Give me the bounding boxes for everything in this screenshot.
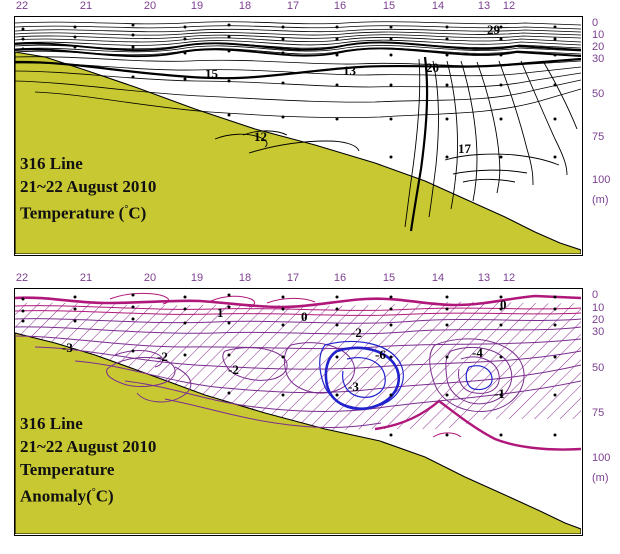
contour-label: 1 <box>217 305 224 321</box>
panel-temperature-anomaly: 2221201918171615141312 <box>0 272 620 554</box>
depth-axis-top: 01020305075100(m) <box>592 16 620 256</box>
depth-axis-bottom: 01020305075100(m) <box>592 288 620 536</box>
station-label-17: 17 <box>287 0 299 13</box>
contour-label: 29 <box>487 22 500 38</box>
contour-label: -6 <box>375 347 386 363</box>
depth-tick-100: 100 <box>592 174 610 186</box>
station-axis-bottom: 2221201918171615141312 <box>0 272 583 288</box>
depth-tick-20: 20 <box>592 314 604 326</box>
station-label-22: 22 <box>16 0 28 13</box>
contour-label: 15 <box>205 66 218 82</box>
contour-label: -3 <box>348 379 359 395</box>
depth-tick-20: 20 <box>592 41 604 53</box>
station-axis-top: 2221201918171615141312 <box>0 0 583 16</box>
contour-label: -2 <box>157 349 168 365</box>
depth-tick-50: 50 <box>592 362 604 374</box>
depth-unit-label: (m) <box>592 194 609 206</box>
caption-temperature-post: C) <box>128 204 146 223</box>
station-label-18: 18 <box>239 272 251 285</box>
caption-line-1: 316 Line <box>20 412 156 435</box>
station-label-19: 19 <box>191 0 203 13</box>
station-label-13: 13 <box>478 0 490 13</box>
station-label-17: 17 <box>287 272 299 285</box>
station-label-16: 16 <box>334 0 346 13</box>
contour-label: 12 <box>254 129 267 145</box>
figure-root: 2221201918171615141312 <box>0 0 620 554</box>
depth-tick-10: 10 <box>592 302 604 314</box>
contour-label: 20 <box>426 60 439 76</box>
depth-tick-30: 30 <box>592 53 604 65</box>
depth-tick-75: 75 <box>592 131 604 143</box>
depth-unit-label: (m) <box>592 472 609 484</box>
station-label-15: 15 <box>383 272 395 285</box>
depth-tick-30: 30 <box>592 326 604 338</box>
station-label-21: 21 <box>80 272 92 285</box>
station-label-21: 21 <box>80 0 92 13</box>
contour-label: -4 <box>472 345 483 361</box>
contour-label: 13 <box>343 63 356 79</box>
caption-anomaly-pre: Anomaly( <box>20 487 92 506</box>
station-label-15: 15 <box>383 0 395 13</box>
station-label-13: 13 <box>478 272 490 285</box>
caption-line-3: Temperature (°C) <box>20 198 156 225</box>
caption-line-1: 316 Line <box>20 152 156 175</box>
panel-temperature: 2221201918171615141312 <box>0 0 620 272</box>
depth-tick-50: 50 <box>592 88 604 100</box>
contour-label: 0 <box>301 309 308 325</box>
station-label-16: 16 <box>334 272 346 285</box>
depth-tick-100: 100 <box>592 452 610 464</box>
contour-label: 0 <box>500 297 507 313</box>
station-label-20: 20 <box>144 0 156 13</box>
contour-label: -3 <box>62 340 73 356</box>
caption-anomaly-post: C) <box>96 487 114 506</box>
station-label-14: 14 <box>432 272 444 285</box>
contour-label: -2 <box>351 325 362 341</box>
caption-line-4: Anomaly(°C) <box>20 481 156 508</box>
station-label-12: 12 <box>503 272 515 285</box>
depth-tick-0: 0 <box>592 289 598 301</box>
station-label-19: 19 <box>191 272 203 285</box>
caption-line-2: 21~22 August 2010 <box>20 435 156 458</box>
depth-tick-10: 10 <box>592 29 604 41</box>
station-label-20: 20 <box>144 272 156 285</box>
depth-tick-0: 0 <box>592 17 598 29</box>
caption-line-2: 21~22 August 2010 <box>20 175 156 198</box>
contour-label: -2 <box>228 362 239 378</box>
station-label-22: 22 <box>16 272 28 285</box>
caption-line-3: Temperature <box>20 458 156 481</box>
station-label-14: 14 <box>432 0 444 13</box>
caption-temperature-pre: Temperature ( <box>20 204 124 223</box>
station-label-18: 18 <box>239 0 251 13</box>
contour-label: 17 <box>458 141 471 157</box>
contour-label: -1 <box>494 386 505 402</box>
depth-tick-75: 75 <box>592 407 604 419</box>
caption-anomaly: 316 Line 21~22 August 2010 Temperature A… <box>20 412 156 508</box>
station-label-12: 12 <box>503 0 515 13</box>
caption-temperature: 316 Line 21~22 August 2010 Temperature (… <box>20 152 156 225</box>
